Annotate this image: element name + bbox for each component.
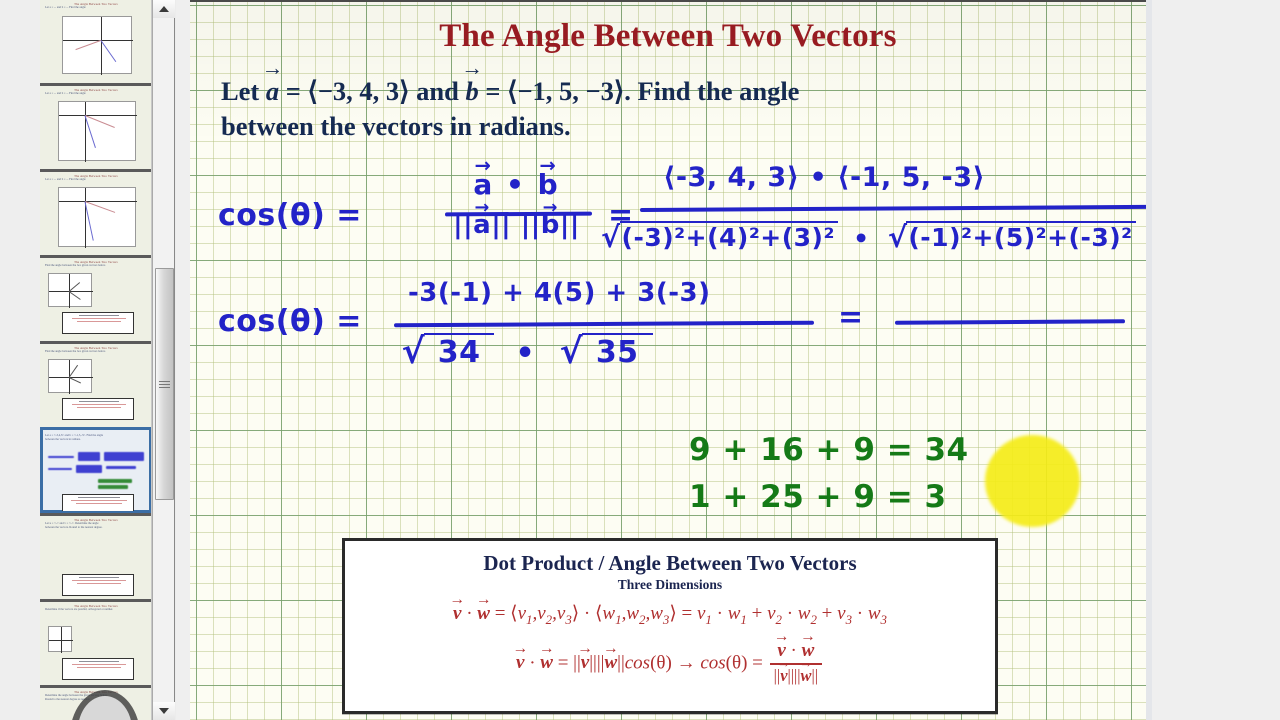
vector-a-symbol: →a (266, 74, 279, 109)
thumbnail-graph (48, 273, 92, 307)
sqrt-right: (-1)²+(5)²+(-3)² (885, 220, 1136, 254)
sqrt-34: 34 (398, 332, 494, 372)
list-item[interactable]: The Angle Between Two Vectors Let a = ..… (40, 0, 152, 83)
formula-box-title: Dot Product / Angle Between Two Vectors (345, 551, 995, 576)
thumbnail-subtitle-2: between the vectors. Round to the neares… (42, 526, 150, 530)
thumbnail-graph (62, 16, 132, 74)
thumbnail-graph (48, 626, 72, 652)
scratch-work-line-2: 1 + 25 + 9 = 3 (689, 479, 947, 515)
line-2-fraction-bar (394, 321, 814, 328)
thumbnail-subtitle: Let a = ... and b = ... Find the angle (42, 178, 150, 182)
page-title: The Angle Between Two Vectors (190, 18, 1146, 55)
fraction-1-numerator: →a • →b (444, 168, 589, 201)
formula-equation-1: →v · →w = ⟨v1,v2,v3⟩ · ⟨w1,w2,w3⟩ = v1 ·… (345, 602, 995, 628)
vector-b-symbol: →b (466, 74, 479, 109)
fraction-2-numerator: ⟨-3, 4, 3⟩ • ⟨-1, 5, -3⟩ (663, 162, 985, 193)
thumbnail-subtitle-2: between the vectors in radians. (42, 438, 150, 442)
cos-theta-fraction: →v · →w ||→v||||→w|| (770, 640, 822, 686)
thumbnail-graph (58, 187, 136, 247)
right-gutter (1146, 0, 1280, 720)
list-item[interactable]: The Angle Between Two Vectors Find the a… (40, 341, 152, 427)
thumbnail-formula-box (62, 574, 134, 596)
sidebar-content-gap (176, 0, 190, 720)
dot-operator-2: • (515, 336, 535, 371)
problem-text-pre: Let (221, 76, 266, 106)
thumbnail-subtitle: Find the angle between the two given vec… (42, 264, 150, 268)
thumbnail-sidebar[interactable]: The Angle Between Two Vectors Let a = ..… (40, 0, 152, 720)
fraction-2-denominator: (-3)²+(4)²+(3)² • (-1)²+(5)²+(-3)² (598, 220, 1136, 254)
thumbnail-formula-box (62, 398, 134, 420)
scratch-work-line-1: 9 + 16 + 9 = 34 (689, 432, 969, 468)
thumbnail-formula-box (62, 494, 134, 511)
chevron-up-icon (159, 6, 169, 12)
list-item[interactable]: The Angle Between Two Vectors Let u = <.… (40, 513, 152, 599)
thumbnail-subtitle: Determine if the vectors are parallel, o… (42, 608, 150, 612)
left-gutter (0, 0, 40, 720)
scroll-up-button[interactable] (153, 0, 175, 18)
sidebar-scrollbar[interactable] (152, 0, 175, 720)
thumbnail-formula-box (62, 312, 134, 334)
list-item[interactable]: The Angle Between Two Vectors Find the a… (40, 255, 152, 341)
formula-box-subtitle: Three Dimensions (345, 577, 995, 593)
list-item[interactable]: The Angle Between Two Vectors Determine … (40, 599, 152, 685)
sqrt-left: (-3)²+(4)²+(3)² (598, 220, 838, 254)
scrollbar-thumb[interactable] (155, 268, 174, 500)
formula-equation-2: →v · →w = ||→v||||→w||cos(θ) → cos(θ) = … (345, 641, 995, 687)
list-item[interactable]: The Angle Between Two Vectors Let a = ..… (40, 83, 152, 169)
scroll-down-button[interactable] (153, 702, 175, 720)
thumbnail-graph (48, 359, 92, 393)
video-player-frame: The Angle Between Two Vectors Let a = ..… (0, 0, 1280, 720)
handwritten-cos-theta-1: cos(θ) = (218, 198, 362, 233)
paper-seam (1146, 0, 1152, 720)
handwritten-equals-2: = (838, 300, 864, 335)
slide-canvas: The Angle Between Two Vectors Let →a = ⟨… (190, 0, 1146, 720)
problem-text-mid1: = ⟨−3, 4, 3⟩ and (279, 76, 465, 106)
handwritten-fraction-1: →a • →b ||→a|| ||→b|| (444, 168, 589, 240)
fraction-2-bar (640, 204, 1146, 212)
handwritten-cos-theta-2: cos(θ) = (218, 304, 362, 339)
list-item[interactable]: The Angle Between Two Vectors Let a = ..… (40, 169, 152, 255)
sqrt-35: 35 (556, 332, 652, 372)
problem-text-mid2: = ⟨−1, 5, −3⟩. Find the angle (479, 76, 800, 106)
thumbnail-subtitle: Find the angle between the two given vec… (42, 350, 150, 354)
grip-icon (159, 379, 170, 390)
thumbnail-subtitle: Let a = ... and b = ... Find the angle (42, 92, 150, 96)
thumbnail-subtitle: Let a = ... and b = ... Find the angle (42, 6, 150, 10)
yellow-highlight-circle (985, 435, 1080, 527)
formula-reference-box: Dot Product / Angle Between Two Vectors … (342, 538, 998, 714)
line-2-numerator: -3(-1) + 4(5) + 3(-3) (408, 278, 711, 308)
blank-answer-fraction-bar (895, 319, 1125, 324)
thumbnail-formula-box (62, 658, 134, 680)
problem-line-2: between the vectors in radians. (221, 109, 1101, 144)
line-2-denominator: 34 • 35 (398, 332, 653, 372)
list-item-selected[interactable]: Let a = <-3,4,3> and b = <-1,5,-3>. Find… (40, 427, 152, 513)
dot-operator: • (853, 224, 869, 253)
thumbnail-graph (58, 101, 136, 161)
chevron-down-icon (159, 708, 169, 714)
problem-statement: Let →a = ⟨−3, 4, 3⟩ and →b = ⟨−1, 5, −3⟩… (221, 74, 1101, 144)
